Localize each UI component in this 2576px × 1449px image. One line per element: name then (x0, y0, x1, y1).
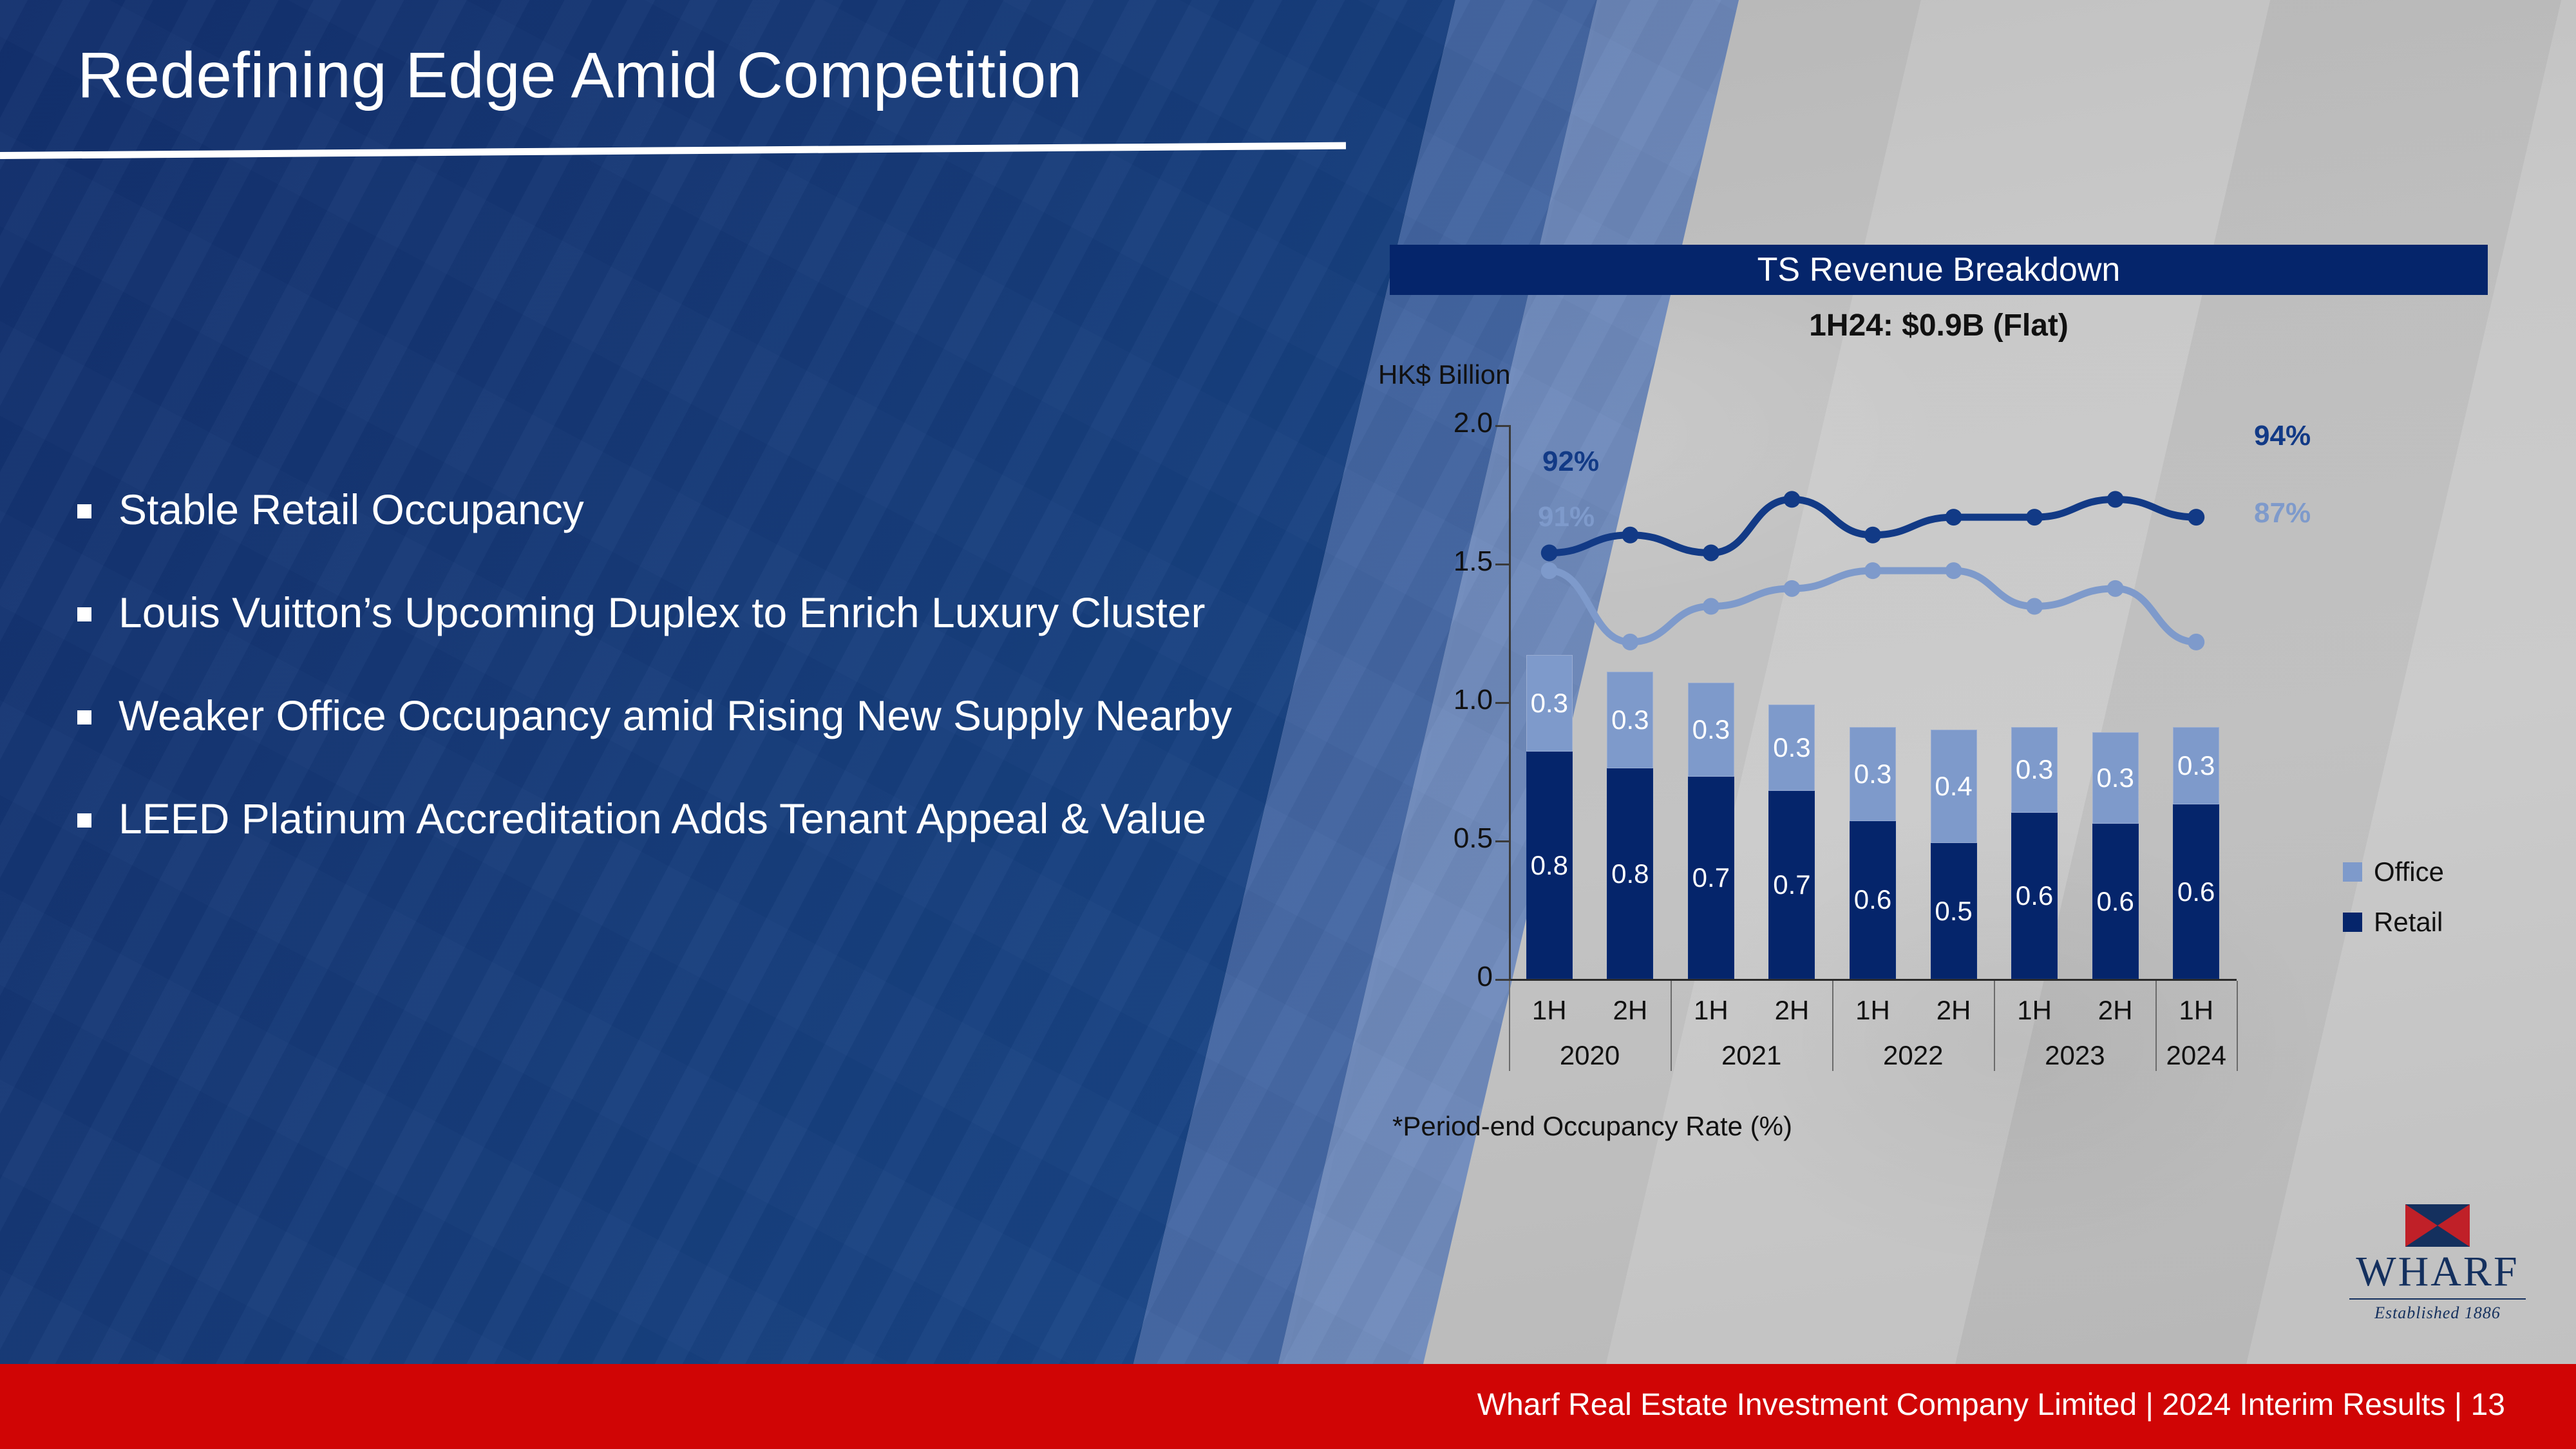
wharf-logo: WHARF Established 1886 (2344, 1204, 2531, 1323)
office-start-label: 91% (1538, 501, 1595, 533)
bar-value-retail: 0.6 (2016, 882, 2053, 909)
x-axis-year-label: 2020 (1513, 1040, 1667, 1071)
bar-segment-office: 0.3 (2173, 727, 2219, 804)
x-axis-separator (2155, 981, 2157, 1071)
y-axis-tick-value: 0 (1383, 961, 1493, 993)
list-item: Louis Vuitton’s Upcoming Duplex to Enric… (77, 589, 1301, 637)
y-axis-tick-value: 0.5 (1383, 822, 1493, 855)
logo-divider (2349, 1298, 2526, 1300)
x-axis-separator (1509, 981, 1510, 1071)
bar-segment-retail: 0.6 (2173, 804, 2219, 979)
bar-segment-retail: 0.5 (1931, 843, 1977, 979)
list-item: Weaker Office Occupancy amid Rising New … (77, 692, 1301, 740)
bar-value-retail: 0.7 (1773, 871, 1810, 898)
bar-segment-retail: 0.7 (1688, 777, 1734, 979)
footer-text: Wharf Real Estate Investment Company Lim… (1477, 1387, 2505, 1423)
bar-segment-retail: 0.6 (2011, 813, 2058, 979)
bar-value-office: 0.3 (1692, 716, 1730, 743)
bar-column: 0.30.6 (2011, 727, 2058, 979)
bar-column: 0.30.6 (2173, 727, 2219, 979)
bar-value-office: 0.3 (1854, 761, 1891, 788)
bar-segment-retail: 0.6 (1850, 821, 1896, 979)
bar-value-retail: 0.7 (1692, 864, 1730, 891)
x-axis-year-label: 2024 (2119, 1040, 2273, 1071)
bar-column: 0.30.6 (1850, 727, 1896, 979)
x-axis-half-label: 1H (1844, 995, 1902, 1026)
bar-segment-office: 0.3 (2011, 727, 2058, 813)
bar-column: 0.30.7 (1688, 683, 1734, 979)
bar-value-office: 0.3 (2177, 752, 2215, 779)
bar-value-office: 0.3 (2016, 756, 2053, 783)
bar-segment-office: 0.3 (1850, 727, 1896, 821)
x-axis-year-label: 2022 (1836, 1040, 1991, 1071)
logo-wordmark: WHARF (2344, 1249, 2531, 1294)
legend-item-office: Office (2343, 857, 2444, 887)
bar-value-retail: 0.6 (1854, 886, 1891, 913)
bar-column: 0.30.8 (1607, 672, 1653, 979)
legend-item-retail: Retail (2343, 907, 2444, 938)
bullet-text: Louis Vuitton’s Upcoming Duplex to Enric… (118, 589, 1205, 637)
footer-bar: Wharf Real Estate Investment Company Lim… (0, 1364, 2576, 1449)
bar-group: 0.30.80.30.80.30.70.30.70.30.60.40.50.30… (1509, 425, 2237, 979)
legend-swatch-office (2343, 862, 2362, 882)
x-axis-separator (1994, 981, 1995, 1071)
bar-segment-office: 0.3 (1607, 672, 1653, 769)
office-end-label: 87% (2254, 497, 2311, 529)
bar-value-office: 0.3 (1531, 690, 1568, 717)
x-axis-half-label: 1H (1520, 995, 1578, 1026)
bar-segment-office: 0.4 (1931, 730, 1977, 843)
bar-value-retail: 0.6 (2096, 888, 2134, 915)
bar-value-office: 0.3 (1611, 706, 1649, 734)
bullet-square-icon (77, 813, 91, 828)
y-axis-tick-value: 2.0 (1383, 407, 1493, 439)
x-axis-separator (2237, 981, 2238, 1071)
x-axis-separator (1671, 981, 1672, 1071)
bullet-text: Stable Retail Occupancy (118, 486, 584, 534)
x-axis-half-label: 2H (1763, 995, 1821, 1026)
chart-legend: Office Retail (2343, 857, 2444, 957)
x-axis-half-label: 1H (2005, 995, 2063, 1026)
bar-column: 0.30.7 (1768, 705, 1815, 979)
chart-unit-label: HK$ Billion (1378, 359, 1510, 390)
bar-segment-office: 0.3 (1688, 683, 1734, 777)
bar-segment-retail: 0.6 (2092, 824, 2139, 979)
bar-segment-retail: 0.8 (1607, 768, 1653, 979)
bar-column: 0.30.8 (1526, 655, 1573, 979)
bar-column: 0.30.6 (2092, 732, 2139, 979)
retail-end-label: 94% (2254, 420, 2311, 452)
x-axis-year-label: 2021 (1674, 1040, 1829, 1071)
bullet-list: Stable Retail Occupancy Louis Vuitton’s … (77, 486, 1301, 898)
bar-value-retail: 0.8 (1611, 860, 1649, 887)
bar-value-office: 0.3 (2096, 764, 2134, 791)
chart-title-banner: TS Revenue Breakdown (1390, 245, 2488, 295)
bar-value-retail: 0.6 (2177, 878, 2215, 905)
x-axis-half-label: 1H (1682, 995, 1740, 1026)
bar-segment-office: 0.3 (1526, 655, 1573, 752)
legend-label-retail: Retail (2374, 907, 2443, 938)
chart-title: TS Revenue Breakdown (1757, 251, 2121, 289)
logo-established: Established 1886 (2344, 1303, 2531, 1323)
bar-value-office: 0.3 (1773, 734, 1810, 761)
bar-segment-office: 0.3 (2092, 732, 2139, 824)
bullet-text: Weaker Office Occupancy amid Rising New … (118, 692, 1232, 740)
bar-value-retail: 0.5 (1935, 898, 1972, 925)
x-axis-half-label: 1H (2167, 995, 2225, 1026)
legend-label-office: Office (2374, 857, 2444, 887)
bar-column: 0.40.5 (1931, 730, 1977, 979)
chart-container: TS Revenue Breakdown 1H24: $0.9B (Flat) … (1378, 232, 2499, 1146)
bar-segment-retail: 0.7 (1768, 791, 1815, 979)
x-axis-half-label: 2H (1925, 995, 1983, 1026)
bar-segment-office: 0.3 (1768, 705, 1815, 790)
page-title: Redefining Edge Amid Competition (77, 39, 1083, 113)
chart-subtitle: 1H24: $0.9B (Flat) (1390, 308, 2488, 343)
slide-root: Redefining Edge Amid Competition Stable … (0, 0, 2576, 1449)
x-axis-half-label: 2H (1601, 995, 1659, 1026)
retail-start-label: 92% (1542, 446, 1599, 478)
bar-segment-retail: 0.8 (1526, 752, 1573, 979)
wharf-flag-icon (2405, 1204, 2470, 1247)
bullet-square-icon (77, 504, 91, 518)
x-axis-separator (1832, 981, 1833, 1071)
legend-swatch-retail (2343, 913, 2362, 932)
y-axis-tick-value: 1.0 (1383, 684, 1493, 716)
x-axis-category-frame: 1H2H20201H2H20211H2H20221H2H20231H2024 (1509, 981, 2237, 1071)
bullet-square-icon (77, 710, 91, 724)
bar-value-office: 0.4 (1935, 773, 1972, 800)
chart-footnote: *Period-end Occupancy Rate (%) (1392, 1111, 1792, 1142)
list-item: Stable Retail Occupancy (77, 486, 1301, 534)
bar-value-retail: 0.8 (1531, 852, 1568, 879)
list-item: LEED Platinum Accreditation Adds Tenant … (77, 795, 1301, 843)
bullet-text: LEED Platinum Accreditation Adds Tenant … (118, 795, 1206, 843)
y-axis-tick-value: 1.5 (1383, 545, 1493, 578)
x-axis-half-label: 2H (2087, 995, 2145, 1026)
plot-area: 00.51.01.52.0 0.30.80.30.80.30.70.30.70.… (1378, 406, 2499, 1050)
bullet-square-icon (77, 607, 91, 621)
